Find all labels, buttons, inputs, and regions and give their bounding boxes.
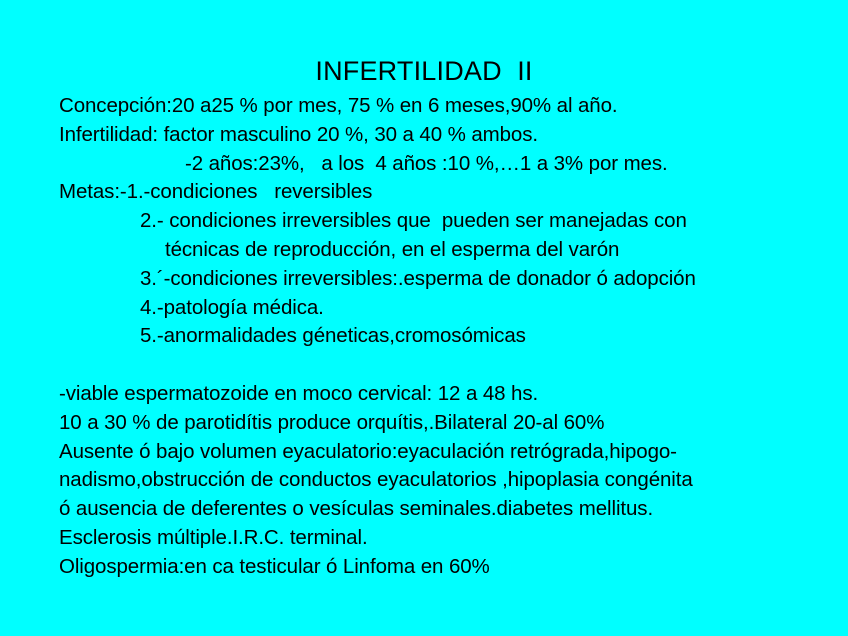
text-line: nadismo,obstrucción de conductos eyacula… bbox=[59, 466, 839, 495]
text-line: Metas:-1.-condiciones reversibles bbox=[59, 178, 839, 207]
text-line: 2.- condiciones irreversibles que pueden… bbox=[59, 207, 839, 236]
text-line: 10 a 30 % de parotidítis produce orquíti… bbox=[59, 409, 839, 438]
text-line: ó ausencia de deferentes o vesículas sem… bbox=[59, 495, 839, 524]
slide-title: INFERTILIDAD II bbox=[0, 55, 848, 87]
text-line: Infertilidad: factor masculino 20 %, 30 … bbox=[59, 121, 839, 150]
text-line: 3.´-condiciones irreversibles:.esperma d… bbox=[59, 265, 839, 294]
presentation-slide: INFERTILIDAD II Concepción:20 a25 % por … bbox=[0, 0, 848, 636]
text-line: Concepción:20 a25 % por mes, 75 % en 6 m… bbox=[59, 92, 839, 121]
text-line: -2 años:23%, a los 4 años :10 %,…1 a 3% … bbox=[59, 150, 839, 179]
slide-body-text: Concepción:20 a25 % por mes, 75 % en 6 m… bbox=[59, 92, 839, 582]
text-line: 5.-anormalidades géneticas,cromosómicas bbox=[59, 322, 839, 351]
text-line: 4.-patología médica. bbox=[59, 294, 839, 323]
text-line: técnicas de reproducción, en el esperma … bbox=[59, 236, 839, 265]
text-line: Oligospermia:en ca testicular ó Linfoma … bbox=[59, 553, 839, 582]
text-line: -viable espermatozoide en moco cervical:… bbox=[59, 380, 839, 409]
text-line: Esclerosis múltiple.I.R.C. terminal. bbox=[59, 524, 839, 553]
text-line-spacer bbox=[59, 351, 839, 380]
text-line: Ausente ó bajo volumen eyaculatorio:eyac… bbox=[59, 438, 839, 467]
